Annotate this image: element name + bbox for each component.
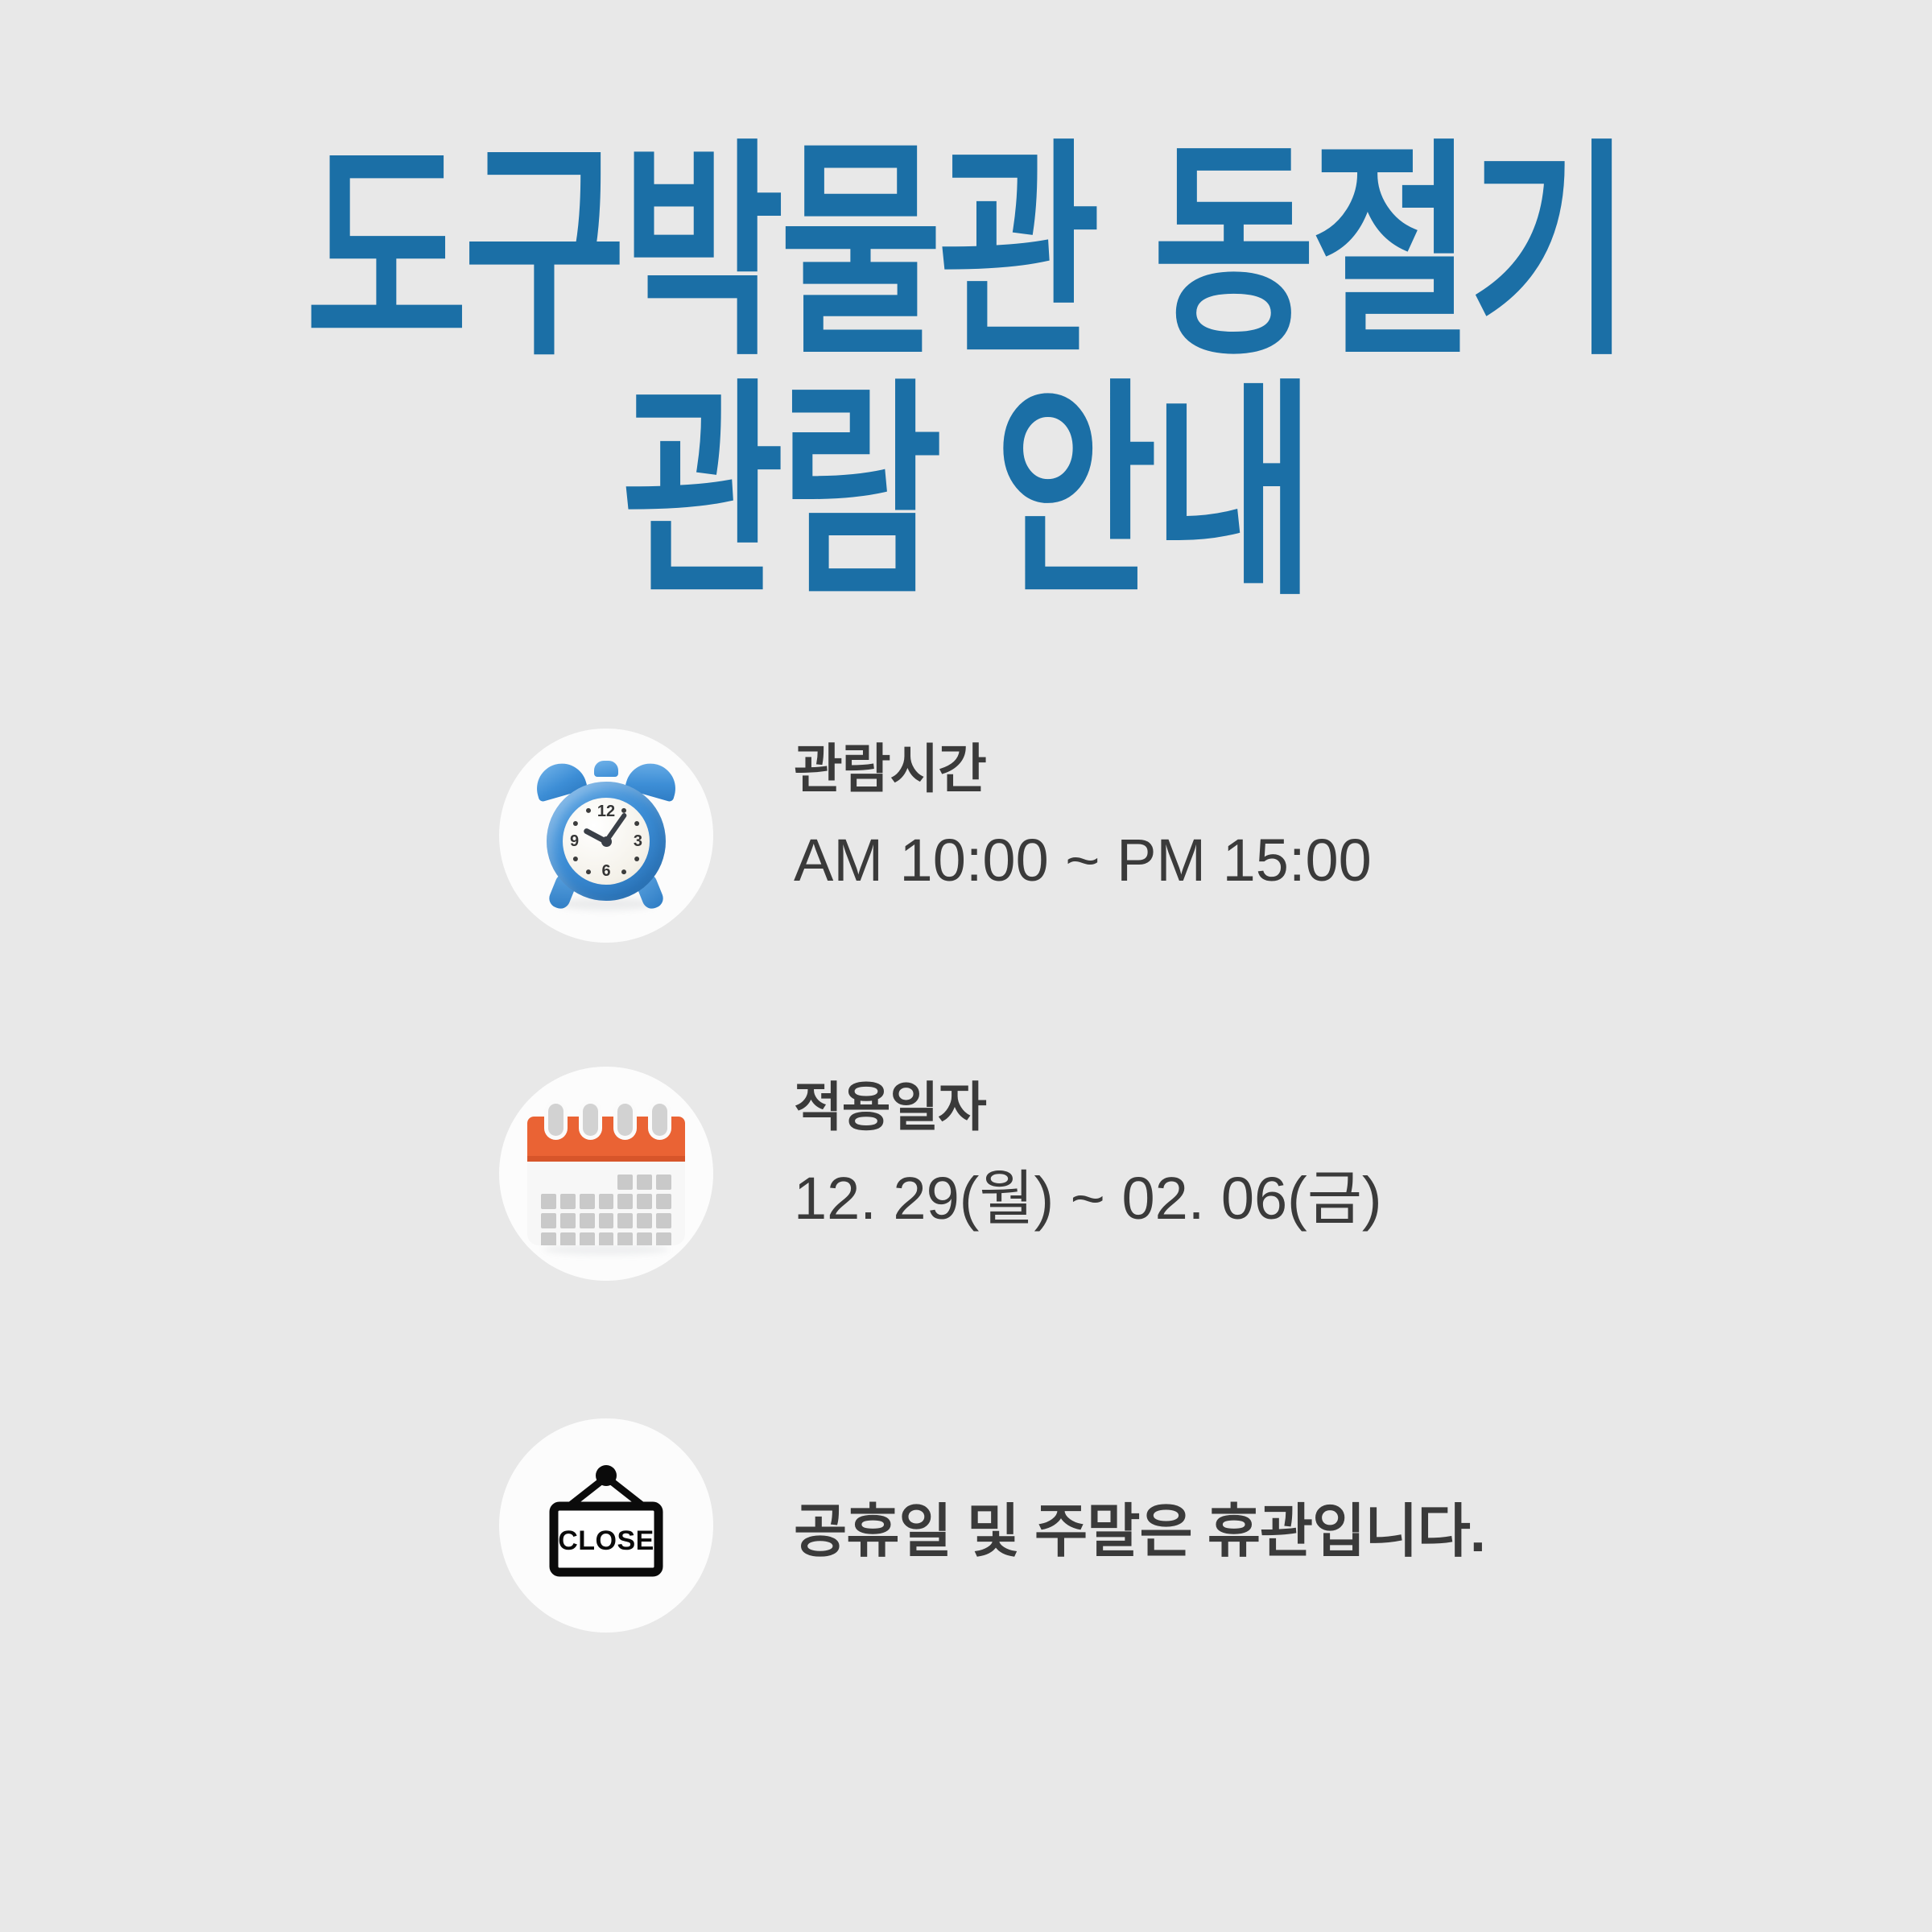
info-heading-opening-hours: 관람시간 (794, 740, 1372, 799)
calendar-day-cell (599, 1213, 614, 1228)
info-text-opening-hours: 관람시간 AM 10:00 ~ PM 15:00 (794, 729, 1372, 893)
calendar-icon (527, 1102, 685, 1245)
page-title: 도구박물관 동절기 관람 안내 (0, 137, 1932, 554)
calendar-day-cell (656, 1232, 671, 1245)
clock-tick-1 (634, 857, 639, 861)
calendar-day-cell (541, 1194, 556, 1209)
clock-tick-8 (586, 808, 591, 813)
info-row-effective-dates: 적용일자 12. 29(월) ~ 02. 06(금) (499, 1067, 1868, 1405)
calendar-day-cell (656, 1194, 671, 1209)
info-row-closed-notice: CLOSE 공휴일 및 주말은 휴관입니다. (499, 1405, 1868, 1646)
calendar-day-cell (656, 1174, 671, 1190)
calendar-day-cell (617, 1194, 633, 1209)
calendar-day-cell (599, 1194, 614, 1209)
alarm-clock-icon: 12 3 6 9 (530, 759, 683, 912)
info-text-closed-notice: 공휴일 및 주말은 휴관입니다. (794, 1484, 1485, 1568)
calendar-blank-cell (580, 1174, 595, 1190)
clock-numeral-12: 12 (597, 803, 615, 819)
calendar-blank-cell (541, 1174, 556, 1190)
clock-tick-2 (621, 869, 626, 874)
calendar-day-cell (560, 1213, 576, 1228)
clock-body: 12 3 6 9 (547, 782, 666, 901)
icon-badge-closed-notice: CLOSE (499, 1418, 713, 1633)
clock-numeral-9: 9 (570, 833, 579, 849)
calendar-day-cell (599, 1232, 614, 1245)
calendar-day-cell (617, 1232, 633, 1245)
calendar-day-cell (560, 1232, 576, 1245)
info-row-opening-hours: 12 3 6 9 (499, 729, 1868, 1067)
clock-numeral-3: 3 (634, 833, 642, 849)
calendar-blank-cell (599, 1174, 614, 1190)
info-list: 12 3 6 9 (499, 729, 1868, 1646)
calendar-day-cell (637, 1174, 652, 1190)
calendar-shadow (543, 1244, 669, 1255)
calendar-blank-cell (560, 1174, 576, 1190)
calendar-ring-1 (548, 1104, 563, 1136)
calendar-ring-2 (583, 1104, 598, 1136)
info-value-opening-hours: AM 10:00 ~ PM 15:00 (794, 828, 1372, 893)
clock-center-pin (601, 836, 612, 847)
calendar-day-cell (617, 1213, 633, 1228)
calendar-day-cell (637, 1194, 652, 1209)
calendar-day-cell (580, 1232, 595, 1245)
clock-face: 12 3 6 9 (563, 798, 650, 885)
poster-canvas: 도구박물관 동절기 관람 안내 12 3 6 (0, 0, 1932, 1932)
calendar-day-cell (541, 1232, 556, 1245)
calendar-day-cell (617, 1174, 633, 1190)
calendar-day-grid (541, 1174, 671, 1245)
clock-tick-7 (573, 821, 578, 826)
calendar-day-cell (637, 1213, 652, 1228)
info-heading-effective-dates: 적용일자 (794, 1078, 1382, 1137)
icon-badge-effective-dates (499, 1067, 713, 1281)
close-sign-hook-knob (596, 1465, 617, 1486)
page-title-line-2: 관람 안내 (0, 377, 1932, 607)
calendar-ring-4 (652, 1104, 667, 1136)
calendar-ring-3 (617, 1104, 633, 1136)
calendar-day-cell (656, 1213, 671, 1228)
info-text-effective-dates: 적용일자 12. 29(월) ~ 02. 06(금) (794, 1067, 1382, 1231)
calendar-day-cell (637, 1232, 652, 1245)
calendar-sheet (527, 1117, 685, 1245)
page-title-line-1: 도구박물관 동절기 (0, 137, 1932, 367)
clock-tick-4 (586, 869, 591, 874)
close-sign-label: CLOSE (558, 1525, 654, 1556)
calendar-day-cell (580, 1213, 595, 1228)
calendar-day-cell (580, 1194, 595, 1209)
calendar-day-cell (541, 1213, 556, 1228)
calendar-day-cell (560, 1194, 576, 1209)
close-sign-icon: CLOSE (530, 1461, 683, 1590)
icon-badge-opening-hours: 12 3 6 9 (499, 729, 713, 943)
clock-tick-11 (634, 821, 639, 826)
clock-tick-5 (573, 857, 578, 861)
info-value-effective-dates: 12. 29(월) ~ 02. 06(금) (794, 1166, 1382, 1231)
clock-knob (594, 761, 618, 777)
clock-numeral-6: 6 (601, 863, 610, 879)
